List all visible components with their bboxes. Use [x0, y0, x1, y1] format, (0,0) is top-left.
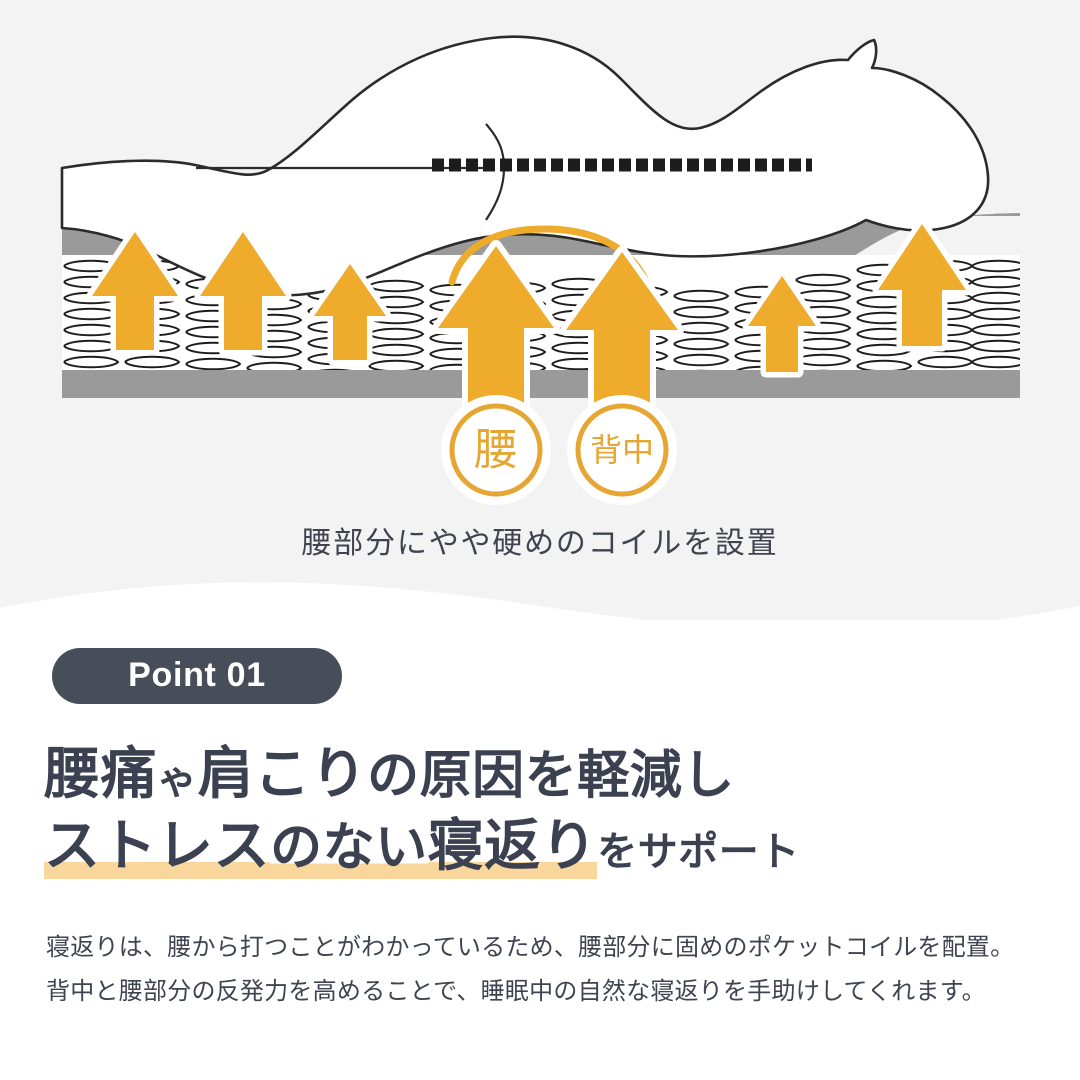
- headline-part-2b: のない: [270, 819, 428, 879]
- illustration-section: 腰 背中 腰部分にやや硬めのコイルを設置: [0, 0, 1080, 620]
- headline-part-2d: をサポート: [597, 830, 800, 874]
- headline-part-2c: 寝返り: [428, 814, 598, 879]
- body-line-2: 背中と腰部分の反発力を高めることで、睡眠中の自然な寝返りを手助けしてくれます。: [46, 970, 1046, 1014]
- headline: 腰痛ゃ肩こりの原因を軽減し ストレスのない寝返りをサポート: [44, 738, 1044, 881]
- illustration-caption: 腰部分にやや硬めのコイルを設置: [0, 518, 1080, 562]
- headline-part-1a: 腰痛: [44, 742, 157, 805]
- mattress-base-bar: [62, 368, 1020, 398]
- content-section: Point 01 腰痛ゃ肩こりの原因を軽減し ストレスのない寝返りをサポート 寝…: [0, 620, 1080, 1080]
- headline-part-1c: 肩こり: [198, 742, 368, 805]
- back-badge-label: 背中: [590, 432, 654, 468]
- headline-part-1b: ゃ: [157, 758, 198, 802]
- headline-part-1d: の原因を軽減し: [367, 747, 735, 805]
- headline-line-1: 腰痛ゃ肩こりの原因を軽減し: [44, 738, 1044, 810]
- headline-line-2: ストレスのない寝返りをサポート: [44, 810, 1044, 882]
- headline-part-2a: ストレス: [44, 814, 270, 879]
- body-line-1: 寝返りは、腰から打つことがわかっているため、腰部分に固めのポケットコイルを配置。: [46, 926, 1046, 970]
- waist-badge-label: 腰: [474, 426, 518, 475]
- body-copy: 寝返りは、腰から打つことがわかっているため、腰部分に固めのポケットコイルを配置。…: [46, 926, 1046, 1015]
- point-badge: Point 01: [52, 648, 342, 704]
- point-badge-label: Point 01: [128, 658, 266, 694]
